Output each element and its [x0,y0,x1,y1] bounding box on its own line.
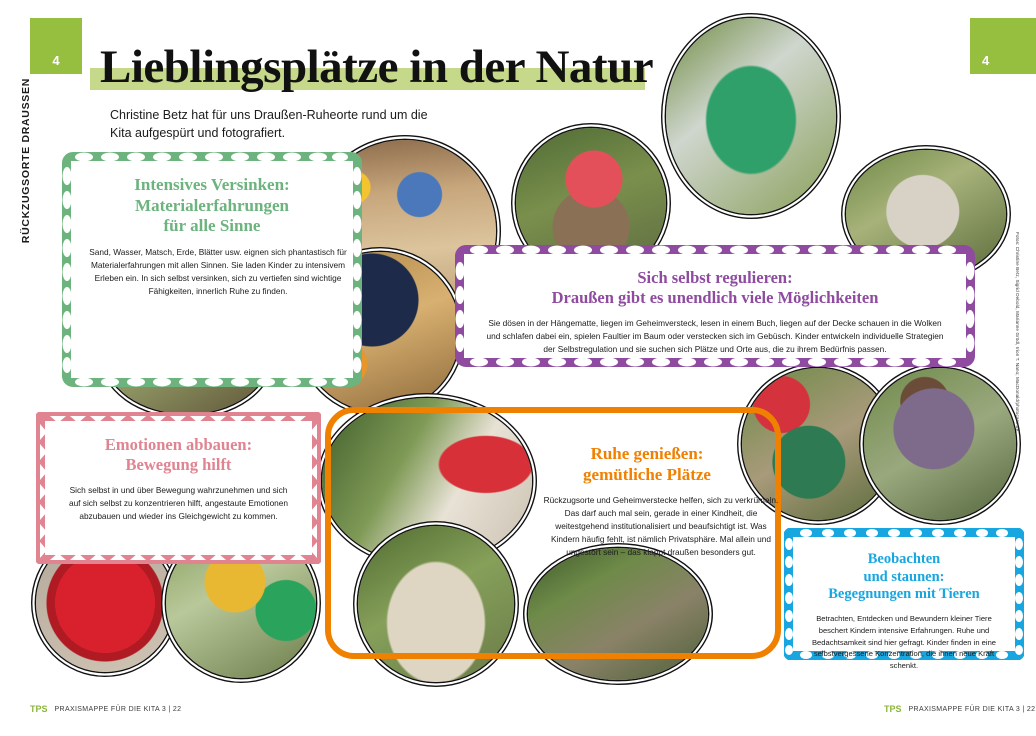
panel-title-line-2: Materialerfahrungen [135,196,289,215]
footer-left: TPS PRAXISMAPPE FÜR DIE KITA 3 | 22 [30,704,181,714]
panel-sich-selbst-regulieren: Sich selbst regulieren: Draußen gibt es … [455,245,975,367]
magazine-spread: 4 4 RÜCKZUGSORTE DRAUSSEN Lieblingsplätz… [0,0,1036,736]
photo-hanging-nest-chair [666,18,836,214]
footer-left-text: PRAXISMAPPE FÜR DIE KITA 3 | 22 [55,706,182,713]
panel-text-beobachten-und-staunen: Betrachten, Entdecken und Bewundern klei… [811,613,997,672]
panel-ruhe-geniessen: Ruhe genießen: gemütliche Plätze Rückzug… [322,404,784,662]
panel-title-intensives-versinken: Intensives Versinken: Materialerfahrunge… [89,175,335,237]
panel-title-line-2: Bewegung hilft [126,455,232,474]
panel-title-line-3: Begegnungen mit Tieren [828,586,979,602]
tps-logo: TPS [30,704,48,714]
panel-title-line-2: und staunen: [864,569,945,585]
panel-title-emotionen-abbauen: Emotionen abbauen: Bewegung hilft [63,435,294,475]
panel-title-ruhe-geniessen: Ruhe genießen: gemütliche Plätze [540,444,754,485]
panel-title-line-1: Emotionen abbauen: [105,435,252,454]
panel-title-line-2: Draußen gibt es unendlich viele Möglichk… [552,288,879,307]
panel-text-intensives-versinken: Sand, Wasser, Matsch, Erde, Blätter usw.… [89,246,347,297]
footer-right: TPS PRAXISMAPPE FÜR DIE KITA 3 | 22 [884,704,1035,714]
panel-title-line-3: für alle Sinne [164,216,261,235]
panel-body-beobachten-und-staunen: Beobachten und staunen: Begegnungen mit … [793,537,1015,651]
panel-body-ruhe-geniessen: Ruhe genießen: gemütliche Plätze Rückzug… [522,430,772,653]
panel-text-emotionen-abbauen: Sich selbst in und über Bewegung wahrzun… [64,484,294,523]
page-deck: Christine Betz hat für uns Draußen-Ruheo… [110,106,440,142]
panel-title-line-1: Intensives Versinken: [134,175,289,194]
section-rail-label: RÜCKZUGSORTE DRAUSSEN [20,78,32,308]
footer-right-text: PRAXISMAPPE FÜR DIE KITA 3 | 22 [909,706,1036,713]
panel-title-sich-selbst-regulieren: Sich selbst regulieren: Draußen gibt es … [482,268,948,308]
panel-title-line-2: gemütliche Plätze [583,465,711,484]
panel-body-intensives-versinken: Intensives Versinken: Materialerfahrunge… [71,161,353,378]
photo-credit: Fotos: Christine Betz, Sigrid Debold, Ma… [1006,232,1022,392]
panel-title-beobachten-und-staunen: Beobachten und staunen: Begegnungen mit … [811,551,997,604]
panel-text-sich-selbst-regulieren: Sie dösen in der Hängematte, liegen im G… [482,317,948,356]
panel-intensives-versinken: Intensives Versinken: Materialerfahrunge… [62,152,362,387]
panel-emotionen-abbauen: Emotionen abbauen: Bewegung hilft Sich s… [36,412,321,564]
page-number-right: 4 [970,53,1036,68]
section-rail: RÜCKZUGSORTE DRAUSSEN [10,78,36,308]
page-title: Lieblingsplätze in der Natur [100,40,653,94]
page-number-block-left: 4 [30,18,82,74]
panel-beobachten-und-staunen: Beobachten und staunen: Begegnungen mit … [784,528,1024,660]
panel-title-line-1: Sich selbst regulieren: [637,268,792,287]
photo-girl-with-insect [864,368,1016,520]
photo-credit-text: Fotos: Christine Betz, Sigrid Debold, Ma… [1015,232,1020,431]
page-number-left: 4 [30,53,82,68]
panel-text-ruhe-geniessen: Rückzugsorte und Geheimverstecke helfen,… [540,494,782,558]
page-number-block-right: 4 [970,18,1036,74]
panel-title-line-1: Beobachten [868,551,941,567]
panel-title-line-1: Ruhe genießen: [591,444,704,463]
panel-body-emotionen-abbauen: Emotionen abbauen: Bewegung hilft Sich s… [45,421,312,555]
tps-logo-right: TPS [884,704,902,714]
panel-body-sich-selbst-regulieren: Sich selbst regulieren: Draußen gibt es … [464,254,966,358]
